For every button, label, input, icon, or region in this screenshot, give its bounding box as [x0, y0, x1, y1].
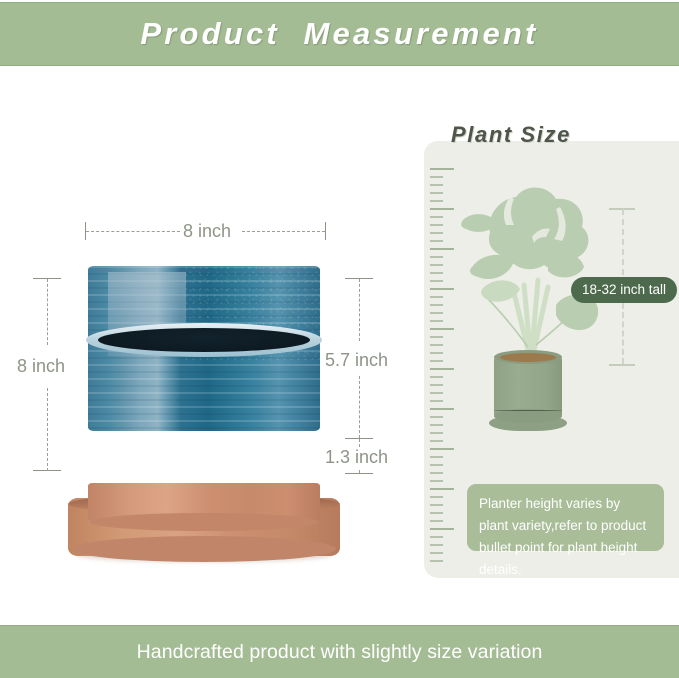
dim-line-lower	[359, 376, 360, 438]
ruler-tick-minor	[430, 544, 443, 546]
ruler-tick-major	[430, 288, 454, 290]
ruler-tick-minor	[430, 512, 443, 514]
ruler-tick-minor	[430, 560, 443, 562]
ruler-tick-minor	[430, 384, 443, 386]
ruler-tick-minor	[430, 520, 443, 522]
ruler-tick-minor	[430, 176, 443, 178]
ruler-tick-minor	[430, 336, 443, 338]
plant-pot-seam	[494, 410, 562, 411]
footer-banner: Handcrafted product with slightly size v…	[0, 625, 679, 678]
ruler-tick-minor	[430, 272, 443, 274]
ruler-tick-minor	[430, 200, 443, 202]
plant-size-title: Plant Size	[451, 122, 571, 148]
dim-line-lower	[622, 303, 624, 364]
ruler-tick-minor	[430, 224, 443, 226]
ruler-tick-major	[430, 168, 454, 170]
ruler-tick-minor	[430, 184, 443, 186]
dim-line-upper	[622, 209, 624, 275]
dimension-label-body: 5.7 inch	[325, 350, 388, 371]
ruler-tick-minor	[430, 280, 443, 282]
ruler-tick-minor	[430, 440, 443, 442]
dim-line-upper	[47, 279, 48, 345]
dim-line-lower	[47, 388, 48, 471]
ruler-tick-minor	[430, 344, 443, 346]
plant-height-note: Planter height varies by plant variety,r…	[467, 484, 664, 551]
ruler-tick-major	[430, 448, 454, 450]
ruler-tick-minor	[430, 352, 443, 354]
ruler-tick-minor	[430, 240, 443, 242]
leaf-right-mid	[548, 253, 584, 277]
ruler-tick-major	[430, 248, 454, 250]
ruler-tick-minor	[430, 192, 443, 194]
planter-base-bottom	[90, 513, 318, 531]
ruler-tick-major	[430, 408, 454, 410]
ruler-tick-minor	[430, 392, 443, 394]
dimension-label-width: 8 inch	[183, 221, 231, 242]
ruler-tick-minor	[430, 312, 443, 314]
monstera-plant-illustration	[452, 175, 612, 365]
ruler-tick-minor	[430, 376, 443, 378]
plant-height-badge: 18-32 inch tall	[571, 277, 677, 303]
ruler-tick-minor	[430, 496, 443, 498]
ruler-tick-minor	[430, 504, 443, 506]
saucer-bottom	[72, 536, 336, 562]
plant-pot-soil	[500, 353, 556, 362]
ruler-tick-major	[430, 528, 454, 530]
footer-note-text: Handcrafted product with slightly size v…	[137, 641, 543, 664]
ruler-tick-major	[430, 368, 454, 370]
ruler-tick-minor	[430, 400, 443, 402]
ruler-tick-minor	[430, 456, 443, 458]
dimension-label-height: 8 inch	[17, 356, 65, 377]
ruler-tick-minor	[430, 360, 443, 362]
dim-line-right	[242, 231, 325, 232]
ruler-tick-minor	[430, 472, 443, 474]
dimension-label-saucer: 1.3 inch	[325, 447, 388, 468]
dim-line-left	[86, 231, 180, 232]
ruler-tick-minor	[430, 432, 443, 434]
ruler-tick-minor	[430, 296, 443, 298]
ruler-tick-minor	[430, 232, 443, 234]
ruler-tick-minor	[430, 264, 443, 266]
ruler-tick-major	[430, 488, 454, 490]
ruler-tick-minor	[430, 304, 443, 306]
ruler-tick-major	[430, 328, 454, 330]
ruler-tick-minor	[430, 480, 443, 482]
dim-cap-bottom	[345, 473, 373, 474]
ruler-tick-minor	[430, 536, 443, 538]
dim-cap-bottom	[609, 364, 635, 366]
ruler-tick-major	[430, 208, 454, 210]
dim-cap-right	[325, 222, 326, 240]
ruler-tick-minor	[430, 416, 443, 418]
product-photo-area: 8 inch 8 inch 5.7 inch 1.3 inch	[0, 66, 415, 625]
ruler-tick-minor	[430, 320, 443, 322]
page-title: Product Measurement	[140, 16, 538, 52]
dim-line-upper	[359, 279, 360, 341]
ruler-tick-minor	[430, 424, 443, 426]
planter-interior	[98, 328, 310, 352]
ruler-tick-minor	[430, 216, 443, 218]
ruler-tick-minor	[430, 552, 443, 554]
leaf-left-mid	[470, 255, 514, 279]
plant-pot-bottom	[494, 409, 562, 423]
ruler-tick-minor	[430, 256, 443, 258]
header-banner: Product Measurement	[0, 2, 679, 66]
ruler-tick-minor	[430, 464, 443, 466]
